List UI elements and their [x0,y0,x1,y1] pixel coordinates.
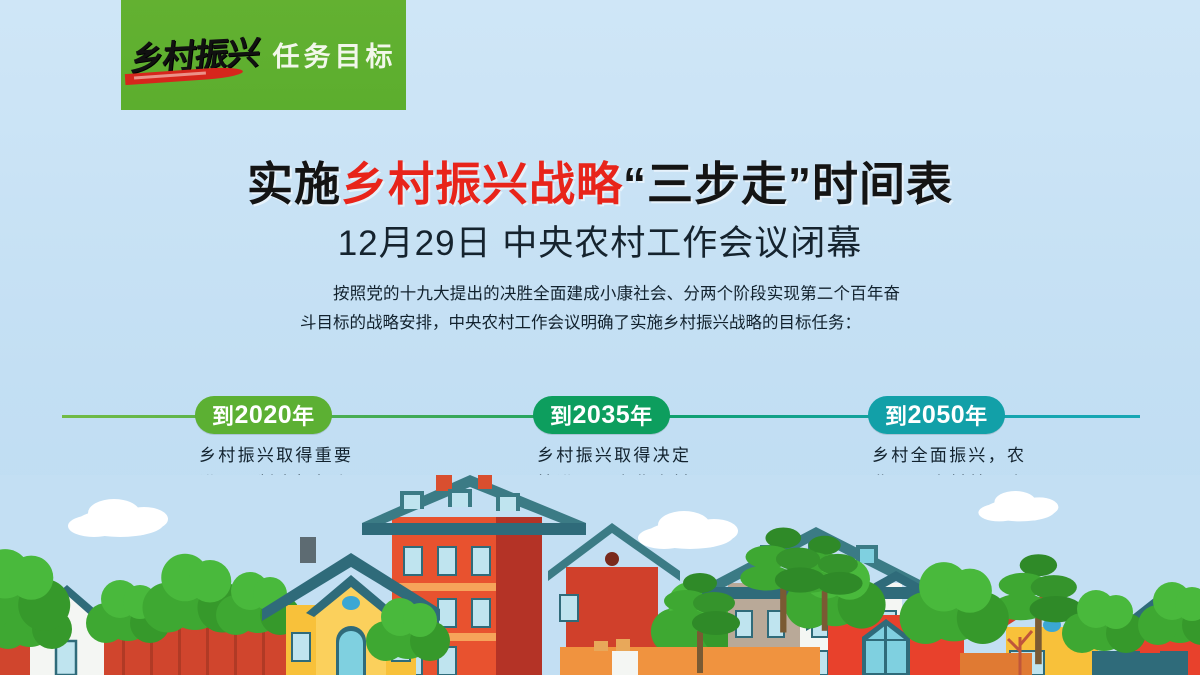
village-illustration [0,475,1200,675]
milestone-2020[interactable]: 到2020年 乡村振兴取得重要进展，制度框架和政策体系基本形成。 [195,396,332,434]
timeline: 到2020年 乡村振兴取得重要进展，制度框架和政策体系基本形成。 到2035年 … [0,414,1200,418]
title-part-1: 实施 [247,158,341,210]
milestone-2050-year: 2050 [908,401,966,430]
milestone-2035-year: 2035 [573,401,631,430]
milestone-2035[interactable]: 到2035年 乡村振兴取得决定性进展，农业农村现代化基本实现。 [533,396,670,434]
milestone-2020-year: 2020 [235,401,293,430]
milestone-2050-suffix: 年 [965,399,988,431]
milestone-2035-badge[interactable]: 到2035年 [533,396,670,434]
logo-badge: 乡村振兴 任务目标 [121,0,406,110]
milestone-2035-suffix: 年 [630,399,653,431]
title-part-2: “三步走”时间表 [623,158,953,210]
logo-calligraphy-wrap: 乡村振兴 [131,39,259,72]
milestone-2020-prefix: 到 [212,399,235,431]
milestone-2020-badge[interactable]: 到2020年 [195,396,332,434]
milestone-2020-suffix: 年 [292,399,315,431]
milestone-2050[interactable]: 到2050年 乡村全面振兴，农业强、农村美、农民富全面实现。 [868,396,1005,434]
logo-subtitle: 任务目标 [273,44,397,71]
page-title: 实施乡村振兴战略“三步走”时间表 [0,148,1200,214]
milestone-2050-badge[interactable]: 到2050年 [868,396,1005,434]
intro-paragraph: 按照党的十九大提出的决胜全面建成小康社会、分两个阶段实现第二个百年奋斗目标的战略… [300,280,900,338]
milestone-2035-prefix: 到 [550,399,573,431]
milestone-2050-prefix: 到 [885,399,908,431]
page-subtitle: 12月29日 中央农村工作会议闭幕 [0,215,1200,266]
title-highlight: 乡村振兴战略 [341,158,623,210]
